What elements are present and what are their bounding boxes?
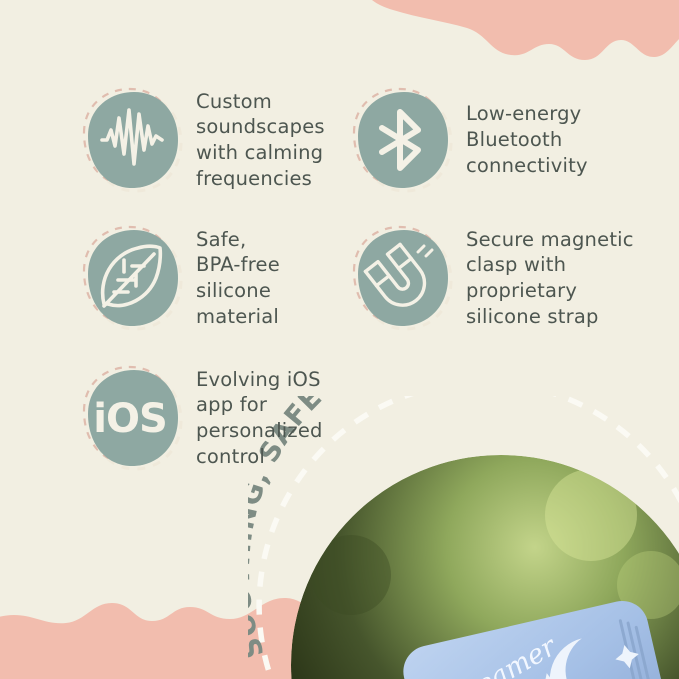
feature-icon-badge: iOS: [74, 362, 186, 474]
infographic-canvas: dreamer SOOTHING, SAFE AND EFFECTIVE: [0, 0, 679, 679]
feature-item-ios-app: iOS Evolving iOS app for personalized co…: [74, 362, 323, 474]
feature-text: Evolving iOS app for personalized contro…: [196, 367, 323, 470]
ios-badge-icon: iOS: [93, 396, 167, 442]
feature-icon-badge: [344, 84, 456, 196]
feature-icon-badge: [74, 84, 186, 196]
feature-icon-badge: [74, 222, 186, 334]
feature-text: Low-energy Bluetooth connectivity: [466, 101, 588, 178]
cloud-decoration-bottom-left: [0, 563, 336, 679]
feature-text: Safe, BPA-free silicone material: [196, 227, 280, 330]
feature-item-magnetic-clasp: Secure magnetic clasp with proprietary s…: [344, 222, 634, 334]
feature-text: Custom soundscapes with calming frequenc…: [196, 89, 325, 192]
feature-text: Secure magnetic clasp with proprietary s…: [466, 227, 634, 330]
feature-item-silicone-material: Safe, BPA-free silicone material: [74, 222, 280, 334]
feature-list: Custom soundscapes with calming frequenc…: [0, 0, 679, 500]
feature-item-custom-soundscapes: Custom soundscapes with calming frequenc…: [74, 84, 325, 196]
feature-item-bluetooth-connectivity: Low-energy Bluetooth connectivity: [344, 84, 588, 196]
feature-icon-badge: [344, 222, 456, 334]
